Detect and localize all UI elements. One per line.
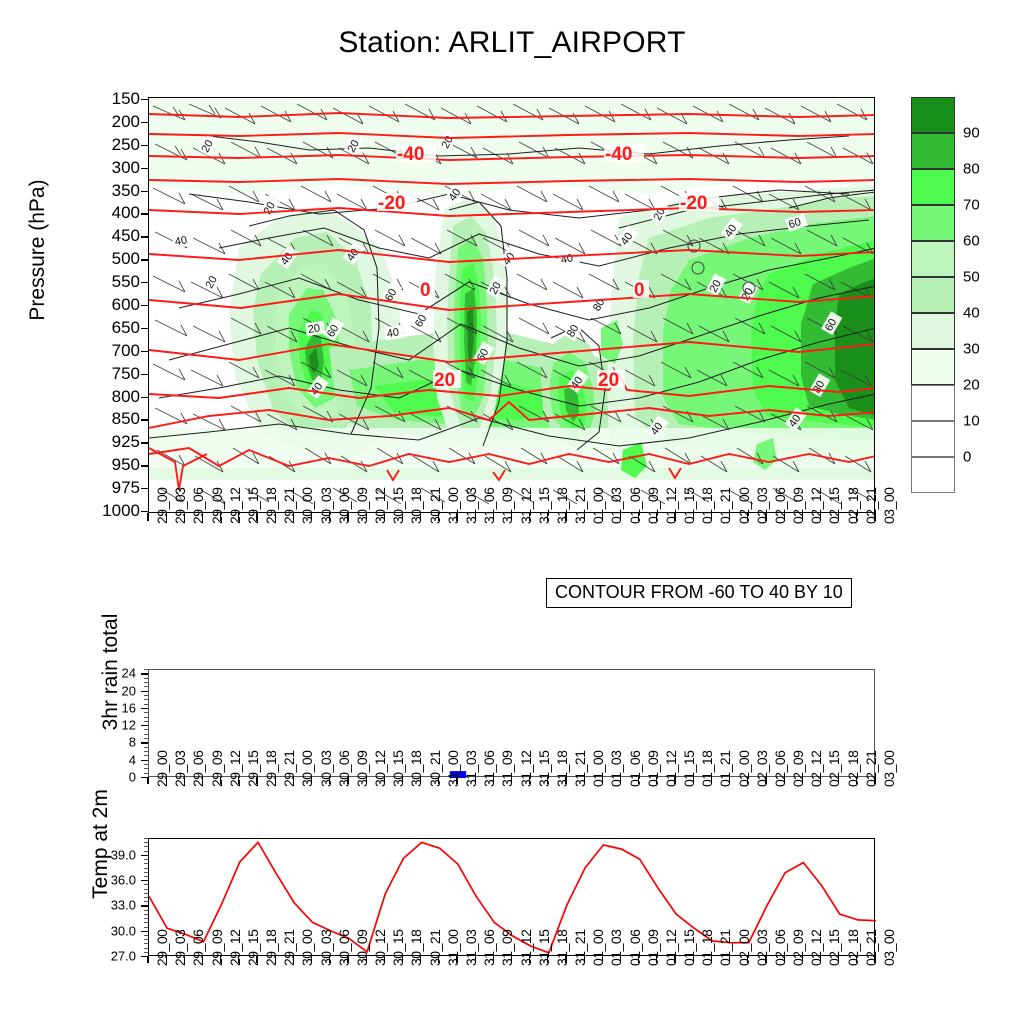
- x-tick-mark: [765, 513, 766, 521]
- x-tick-mark: [166, 513, 167, 521]
- x-tick-label: 01_00: [590, 488, 606, 524]
- x-tick-label: 29_21: [281, 488, 297, 524]
- x-tick-label: 31_00: [445, 488, 461, 524]
- x-tick-mark: [638, 513, 639, 521]
- x-tick-mark: [275, 777, 276, 784]
- isotherm-label: -40: [397, 144, 424, 165]
- x-tick-mark: [329, 513, 330, 521]
- x-tick-label: 29_21: [281, 930, 297, 966]
- x-tick-mark: [674, 956, 675, 963]
- x-tick-label: 29_18: [263, 930, 279, 966]
- pressure-tick-mark: [141, 465, 148, 466]
- pressure-tick-mark: [141, 328, 148, 329]
- pressure-tick-label: 925: [20, 433, 140, 450]
- pressure-tick-label: 300: [20, 159, 140, 176]
- rain-tick-mark: [141, 760, 148, 761]
- x-tick-mark: [620, 956, 621, 963]
- x-tick-mark: [784, 513, 785, 521]
- x-tick-mark: [202, 777, 203, 784]
- x-tick-label: 02_00: [736, 751, 752, 787]
- colorbar-band[interactable]: [911, 385, 955, 421]
- x-tick-mark: [238, 956, 239, 963]
- pressure-tick-label: 600: [20, 296, 140, 313]
- x-tick-label: 01_06: [627, 930, 643, 966]
- x-tick-mark: [511, 956, 512, 963]
- x-tick-mark: [674, 513, 675, 521]
- x-tick-mark: [565, 513, 566, 521]
- x-tick-label: 02_00: [736, 930, 752, 966]
- x-tick-label: 29_06: [190, 930, 206, 966]
- x-tick-mark: [184, 777, 185, 784]
- rain-tick-label: 20: [122, 683, 136, 698]
- x-tick-mark: [347, 513, 348, 521]
- x-tick-label: 31_15: [536, 930, 552, 966]
- sounding-svg: 20 20 20 20 20 20 20 20 20 20 40 40 40 4…: [149, 98, 875, 513]
- x-tick-mark: [729, 513, 730, 521]
- colorbar-tick-label: 30: [963, 341, 980, 358]
- x-tick-label: 29_09: [209, 751, 225, 787]
- x-tick-mark: [711, 513, 712, 521]
- x-tick-mark: [620, 777, 621, 784]
- x-tick-label: 02_06: [772, 751, 788, 787]
- x-tick-label: 01_09: [645, 930, 661, 966]
- x-tick-label: 02_06: [772, 488, 788, 524]
- x-tick-mark: [384, 956, 385, 963]
- x-tick-mark: [238, 777, 239, 784]
- isotherm-label: -40: [605, 144, 632, 165]
- x-tick-mark: [366, 513, 367, 521]
- x-tick-label: 01_12: [663, 488, 679, 524]
- x-tick-label: 01_21: [717, 751, 733, 787]
- pressure-tick-mark: [141, 488, 148, 489]
- pressure-tick-label: 200: [20, 113, 140, 130]
- x-tick-label: 31_12: [518, 751, 534, 787]
- pressure-tick-label: 950: [20, 456, 140, 473]
- temp-tick-label: 33.0: [111, 898, 136, 913]
- x-tick-mark: [693, 513, 694, 521]
- temp-tick-label: 27.0: [111, 949, 136, 964]
- x-tick-mark: [238, 513, 239, 521]
- x-tick-mark: [602, 956, 603, 963]
- x-tick-label: 01_06: [627, 751, 643, 787]
- pressure-tick-label: 550: [20, 273, 140, 290]
- x-tick-label: 01_03: [608, 930, 624, 966]
- x-tick-label: 29_18: [263, 488, 279, 524]
- x-tick-mark: [820, 513, 821, 521]
- x-tick-mark: [384, 777, 385, 784]
- x-tick-label: 02_15: [826, 930, 842, 966]
- x-tick-mark: [656, 777, 657, 784]
- x-tick-label: 29_21: [281, 751, 297, 787]
- pressure-tick-mark: [141, 374, 148, 375]
- colorbar[interactable]: 9080706050403020100: [911, 97, 955, 493]
- x-tick-mark: [802, 777, 803, 784]
- x-tick-mark: [438, 956, 439, 963]
- x-tick-mark: [620, 513, 621, 521]
- x-tick-mark: [511, 513, 512, 521]
- x-tick-mark: [220, 513, 221, 521]
- rain-tick-mark: [141, 673, 148, 674]
- isotherm-label: 0: [634, 280, 645, 301]
- x-tick-label: 02_21: [863, 751, 879, 787]
- x-tick-mark: [420, 777, 421, 784]
- x-tick-label: 30_18: [408, 930, 424, 966]
- rain-tick-mark: [141, 691, 148, 692]
- x-tick-mark: [529, 956, 530, 963]
- x-tick-mark: [529, 513, 530, 521]
- x-tick-mark: [402, 956, 403, 963]
- x-tick-mark: [220, 777, 221, 784]
- humidity-contour-label: 40: [386, 326, 400, 340]
- x-tick-mark: [420, 956, 421, 963]
- x-tick-label: 30_12: [372, 488, 388, 524]
- x-tick-label: 30_21: [427, 930, 443, 966]
- x-tick-label: 30_21: [427, 488, 443, 524]
- x-tick-mark: [584, 777, 585, 784]
- temp-tick-label: 39.0: [111, 847, 136, 862]
- colorbar-tick-label: 90: [963, 125, 980, 142]
- x-tick-label: 31_03: [463, 930, 479, 966]
- x-tick-mark: [784, 777, 785, 784]
- x-tick-mark: [874, 956, 875, 963]
- colorbar-band[interactable]: [911, 313, 955, 349]
- x-tick-label: 29_00: [154, 488, 170, 524]
- x-tick-label: 29_15: [245, 751, 261, 787]
- rain-tick-label: 24: [122, 666, 136, 681]
- x-tick-label: 30_06: [336, 930, 352, 966]
- x-tick-label: 02_12: [808, 488, 824, 524]
- x-tick-mark: [511, 777, 512, 784]
- x-tick-mark: [747, 956, 748, 963]
- humidity-contour-label: 20: [307, 322, 321, 336]
- x-tick-mark: [529, 777, 530, 784]
- x-tick-label: 01_18: [699, 930, 715, 966]
- rain-tick-mark: [141, 708, 148, 709]
- x-tick-mark: [656, 513, 657, 521]
- x-tick-label: 03_00: [881, 488, 897, 524]
- x-tick-label: 01_06: [627, 488, 643, 524]
- x-tick-mark: [674, 777, 675, 784]
- x-tick-label: 02_06: [772, 930, 788, 966]
- x-tick-mark: [311, 956, 312, 963]
- rain-tick-label: 8: [129, 735, 136, 750]
- x-tick-label: 30_03: [318, 488, 334, 524]
- colorbar-tick-label: 60: [963, 233, 980, 250]
- x-tick-label: 01_15: [681, 751, 697, 787]
- x-tick-label: 31_06: [481, 488, 497, 524]
- x-tick-mark: [874, 777, 875, 784]
- x-tick-mark: [547, 777, 548, 784]
- pressure-tick-mark: [141, 145, 148, 146]
- x-tick-mark: [838, 956, 839, 963]
- pressure-tick-label: 450: [20, 227, 140, 244]
- x-tick-mark: [729, 777, 730, 784]
- x-tick-label: 31_18: [554, 751, 570, 787]
- temp-tick-mark: [141, 931, 148, 932]
- pressure-tick-label: 400: [20, 204, 140, 221]
- x-tick-label: 31_09: [499, 930, 515, 966]
- x-tick-mark: [820, 777, 821, 784]
- pressure-tick-mark: [141, 122, 148, 123]
- x-tick-label: 29_09: [209, 930, 225, 966]
- x-tick-mark: [220, 956, 221, 963]
- x-tick-mark: [456, 513, 457, 521]
- x-tick-mark: [275, 956, 276, 963]
- isotherm-label: 20: [434, 370, 455, 391]
- x-tick-label: 01_00: [590, 930, 606, 966]
- x-tick-mark: [347, 956, 348, 963]
- x-tick-mark: [547, 513, 548, 521]
- colorbar-tick-label: 10: [963, 413, 980, 430]
- x-tick-label: 01_15: [681, 930, 697, 966]
- x-tick-label: 01_15: [681, 488, 697, 524]
- page-title: Station: ARLIT_AIRPORT: [0, 26, 1024, 60]
- x-tick-label: 30_03: [318, 930, 334, 966]
- x-tick-mark: [384, 513, 385, 521]
- x-tick-label: 30_09: [354, 751, 370, 787]
- x-tick-label: 02_00: [736, 488, 752, 524]
- x-tick-mark: [584, 956, 585, 963]
- x-tick-label: 30_12: [372, 751, 388, 787]
- sounding-cross-section[interactable]: 20 20 20 20 20 20 20 20 20 20 40 40 40 4…: [148, 97, 875, 513]
- x-tick-label: 30_06: [336, 751, 352, 787]
- isotherm-label: -20: [378, 193, 405, 214]
- colorbar-band[interactable]: [911, 97, 955, 133]
- isotherm-label: 20: [598, 370, 619, 391]
- pressure-tick-label: 700: [20, 342, 140, 359]
- x-tick-label: 03_00: [881, 751, 897, 787]
- pressure-tick-mark: [141, 191, 148, 192]
- colorbar-band[interactable]: [911, 241, 955, 277]
- x-tick-label: 31_09: [499, 751, 515, 787]
- x-tick-label: 30_15: [390, 930, 406, 966]
- x-tick-label: 29_00: [154, 751, 170, 787]
- temp-axis-label: Temp at 2m: [89, 729, 113, 959]
- x-tick-label: 31_18: [554, 488, 570, 524]
- rain-tick-label: 4: [129, 752, 136, 767]
- x-tick-label: 29_15: [245, 488, 261, 524]
- x-tick-label: 30_12: [372, 930, 388, 966]
- rain-tick-label: 0: [129, 770, 136, 785]
- colorbar-tick-label: 50: [963, 269, 980, 286]
- x-tick-label: 30_09: [354, 930, 370, 966]
- x-tick-mark: [456, 777, 457, 784]
- x-tick-mark: [874, 513, 875, 521]
- x-tick-mark: [493, 956, 494, 963]
- x-tick-mark: [347, 777, 348, 784]
- x-tick-label: 29_03: [172, 930, 188, 966]
- x-tick-label: 31_06: [481, 930, 497, 966]
- x-tick-mark: [802, 513, 803, 521]
- temp-tick-mark: [141, 905, 148, 906]
- x-tick-label: 01_03: [608, 751, 624, 787]
- pressure-tick-label: 975: [20, 479, 140, 496]
- x-tick-label: 31_15: [536, 751, 552, 787]
- pressure-tick-mark: [141, 259, 148, 260]
- x-tick-mark: [838, 513, 839, 521]
- x-tick-mark: [602, 513, 603, 521]
- x-tick-label: 02_12: [808, 930, 824, 966]
- x-tick-label: 01_12: [663, 930, 679, 966]
- colorbar-band[interactable]: [911, 277, 955, 313]
- x-tick-label: 30_18: [408, 488, 424, 524]
- temp-tick-label: 36.0: [111, 873, 136, 888]
- x-tick-label: 02_09: [790, 751, 806, 787]
- pressure-tick-mark: [141, 168, 148, 169]
- x-tick-label: 02_15: [826, 751, 842, 787]
- x-tick-label: 03_00: [881, 930, 897, 966]
- x-tick-label: 30_15: [390, 751, 406, 787]
- pressure-tick-label: 350: [20, 182, 140, 199]
- x-tick-mark: [166, 777, 167, 784]
- x-tick-label: 01_12: [663, 751, 679, 787]
- pressure-tick-label: 250: [20, 136, 140, 153]
- x-tick-label: 29_15: [245, 930, 261, 966]
- x-tick-mark: [711, 956, 712, 963]
- pressure-tick-label: 750: [20, 365, 140, 382]
- x-tick-mark: [293, 777, 294, 784]
- x-tick-mark: [329, 777, 330, 784]
- x-tick-mark: [765, 777, 766, 784]
- x-tick-mark: [366, 956, 367, 963]
- x-tick-label: 29_00: [154, 930, 170, 966]
- colorbar-band[interactable]: [911, 457, 955, 493]
- pressure-tick-mark: [141, 442, 148, 443]
- x-tick-mark: [729, 956, 730, 963]
- x-tick-label: 29_09: [209, 488, 225, 524]
- x-tick-mark: [438, 513, 439, 521]
- x-tick-mark: [493, 513, 494, 521]
- pressure-tick-label: 850: [20, 410, 140, 427]
- x-tick-label: 31_12: [518, 930, 534, 966]
- x-tick-mark: [256, 513, 257, 521]
- x-tick-label: 01_09: [645, 488, 661, 524]
- rain-tick-mark: [141, 725, 148, 726]
- x-tick-mark: [856, 777, 857, 784]
- x-tick-mark: [256, 777, 257, 784]
- pressure-tick-label: 500: [20, 250, 140, 267]
- figure-root: Station: ARLIT_AIRPORT Pressure (hPa) 15…: [0, 0, 1024, 1024]
- rain-tick-mark: [141, 742, 148, 743]
- x-tick-mark: [856, 956, 857, 963]
- rain-x-axis: 29_0029_0329_0629_0929_1229_1529_1829_21…: [148, 777, 875, 837]
- isotherm-label: -20: [680, 193, 707, 214]
- x-tick-label: 31_21: [572, 488, 588, 524]
- x-tick-mark: [802, 956, 803, 963]
- colorbar-tick-label: 40: [963, 305, 980, 322]
- colorbar-band[interactable]: [911, 169, 955, 205]
- x-tick-mark: [838, 777, 839, 784]
- x-tick-mark: [147, 777, 148, 784]
- x-tick-label: 31_18: [554, 930, 570, 966]
- isotherm-label: 0: [420, 280, 431, 301]
- x-tick-mark: [747, 513, 748, 521]
- pressure-tick-mark: [141, 351, 148, 352]
- x-tick-label: 29_12: [227, 930, 243, 966]
- x-tick-label: 30_00: [299, 488, 315, 524]
- x-tick-mark: [329, 956, 330, 963]
- x-tick-mark: [547, 956, 548, 963]
- x-tick-mark: [856, 513, 857, 521]
- x-tick-mark: [456, 956, 457, 963]
- x-tick-label: 29_03: [172, 488, 188, 524]
- x-tick-label: 02_18: [845, 930, 861, 966]
- x-tick-label: 31_21: [572, 930, 588, 966]
- x-tick-label: 01_18: [699, 751, 715, 787]
- x-tick-mark: [638, 777, 639, 784]
- x-tick-label: 31_21: [572, 751, 588, 787]
- colorbar-tick-label: 0: [963, 449, 971, 466]
- sounding-x-axis: 29_0029_0329_0629_0929_1229_1529_1829_21…: [148, 513, 875, 583]
- x-tick-mark: [202, 513, 203, 521]
- colorbar-tick-label: 20: [963, 377, 980, 394]
- x-tick-label: 01_21: [717, 488, 733, 524]
- pressure-tick-mark: [141, 236, 148, 237]
- x-tick-label: 31_15: [536, 488, 552, 524]
- x-tick-mark: [475, 956, 476, 963]
- x-tick-mark: [293, 513, 294, 521]
- x-tick-label: 02_03: [754, 751, 770, 787]
- x-tick-label: 02_18: [845, 751, 861, 787]
- x-tick-mark: [711, 777, 712, 784]
- x-tick-mark: [311, 513, 312, 521]
- x-tick-label: 30_15: [390, 488, 406, 524]
- pressure-tick-mark: [141, 397, 148, 398]
- x-tick-label: 02_09: [790, 930, 806, 966]
- temp-tick-mark: [141, 855, 148, 856]
- x-tick-label: 31_00: [445, 930, 461, 966]
- pressure-tick-label: 800: [20, 388, 140, 405]
- x-tick-mark: [275, 513, 276, 521]
- x-tick-mark: [820, 956, 821, 963]
- x-tick-mark: [293, 956, 294, 963]
- pressure-tick-label: 150: [20, 90, 140, 107]
- x-tick-label: 31_03: [463, 488, 479, 524]
- colorbar-band[interactable]: [911, 205, 955, 241]
- x-tick-label: 01_18: [699, 488, 715, 524]
- x-tick-mark: [656, 956, 657, 963]
- x-tick-mark: [693, 777, 694, 784]
- x-tick-mark: [147, 513, 148, 521]
- x-tick-label: 31_12: [518, 488, 534, 524]
- colorbar-band[interactable]: [911, 133, 955, 169]
- x-tick-label: 02_03: [754, 488, 770, 524]
- colorbar-band[interactable]: [911, 349, 955, 385]
- x-tick-label: 02_15: [826, 488, 842, 524]
- x-tick-mark: [584, 513, 585, 521]
- x-tick-mark: [438, 777, 439, 784]
- x-tick-mark: [184, 956, 185, 963]
- x-tick-mark: [366, 777, 367, 784]
- x-tick-label: 30_21: [427, 751, 443, 787]
- x-tick-mark: [202, 956, 203, 963]
- colorbar-band[interactable]: [911, 421, 955, 457]
- x-tick-label: 30_06: [336, 488, 352, 524]
- x-tick-mark: [166, 956, 167, 963]
- x-tick-mark: [565, 956, 566, 963]
- x-tick-label: 02_18: [845, 488, 861, 524]
- pressure-tick-mark: [141, 213, 148, 214]
- x-tick-label: 29_12: [227, 751, 243, 787]
- x-tick-label: 01_03: [608, 488, 624, 524]
- pressure-tick-label: 1000: [20, 502, 140, 519]
- x-tick-mark: [693, 956, 694, 963]
- x-tick-mark: [784, 956, 785, 963]
- x-tick-mark: [420, 513, 421, 521]
- x-tick-mark: [475, 777, 476, 784]
- x-tick-mark: [402, 777, 403, 784]
- x-tick-mark: [402, 513, 403, 521]
